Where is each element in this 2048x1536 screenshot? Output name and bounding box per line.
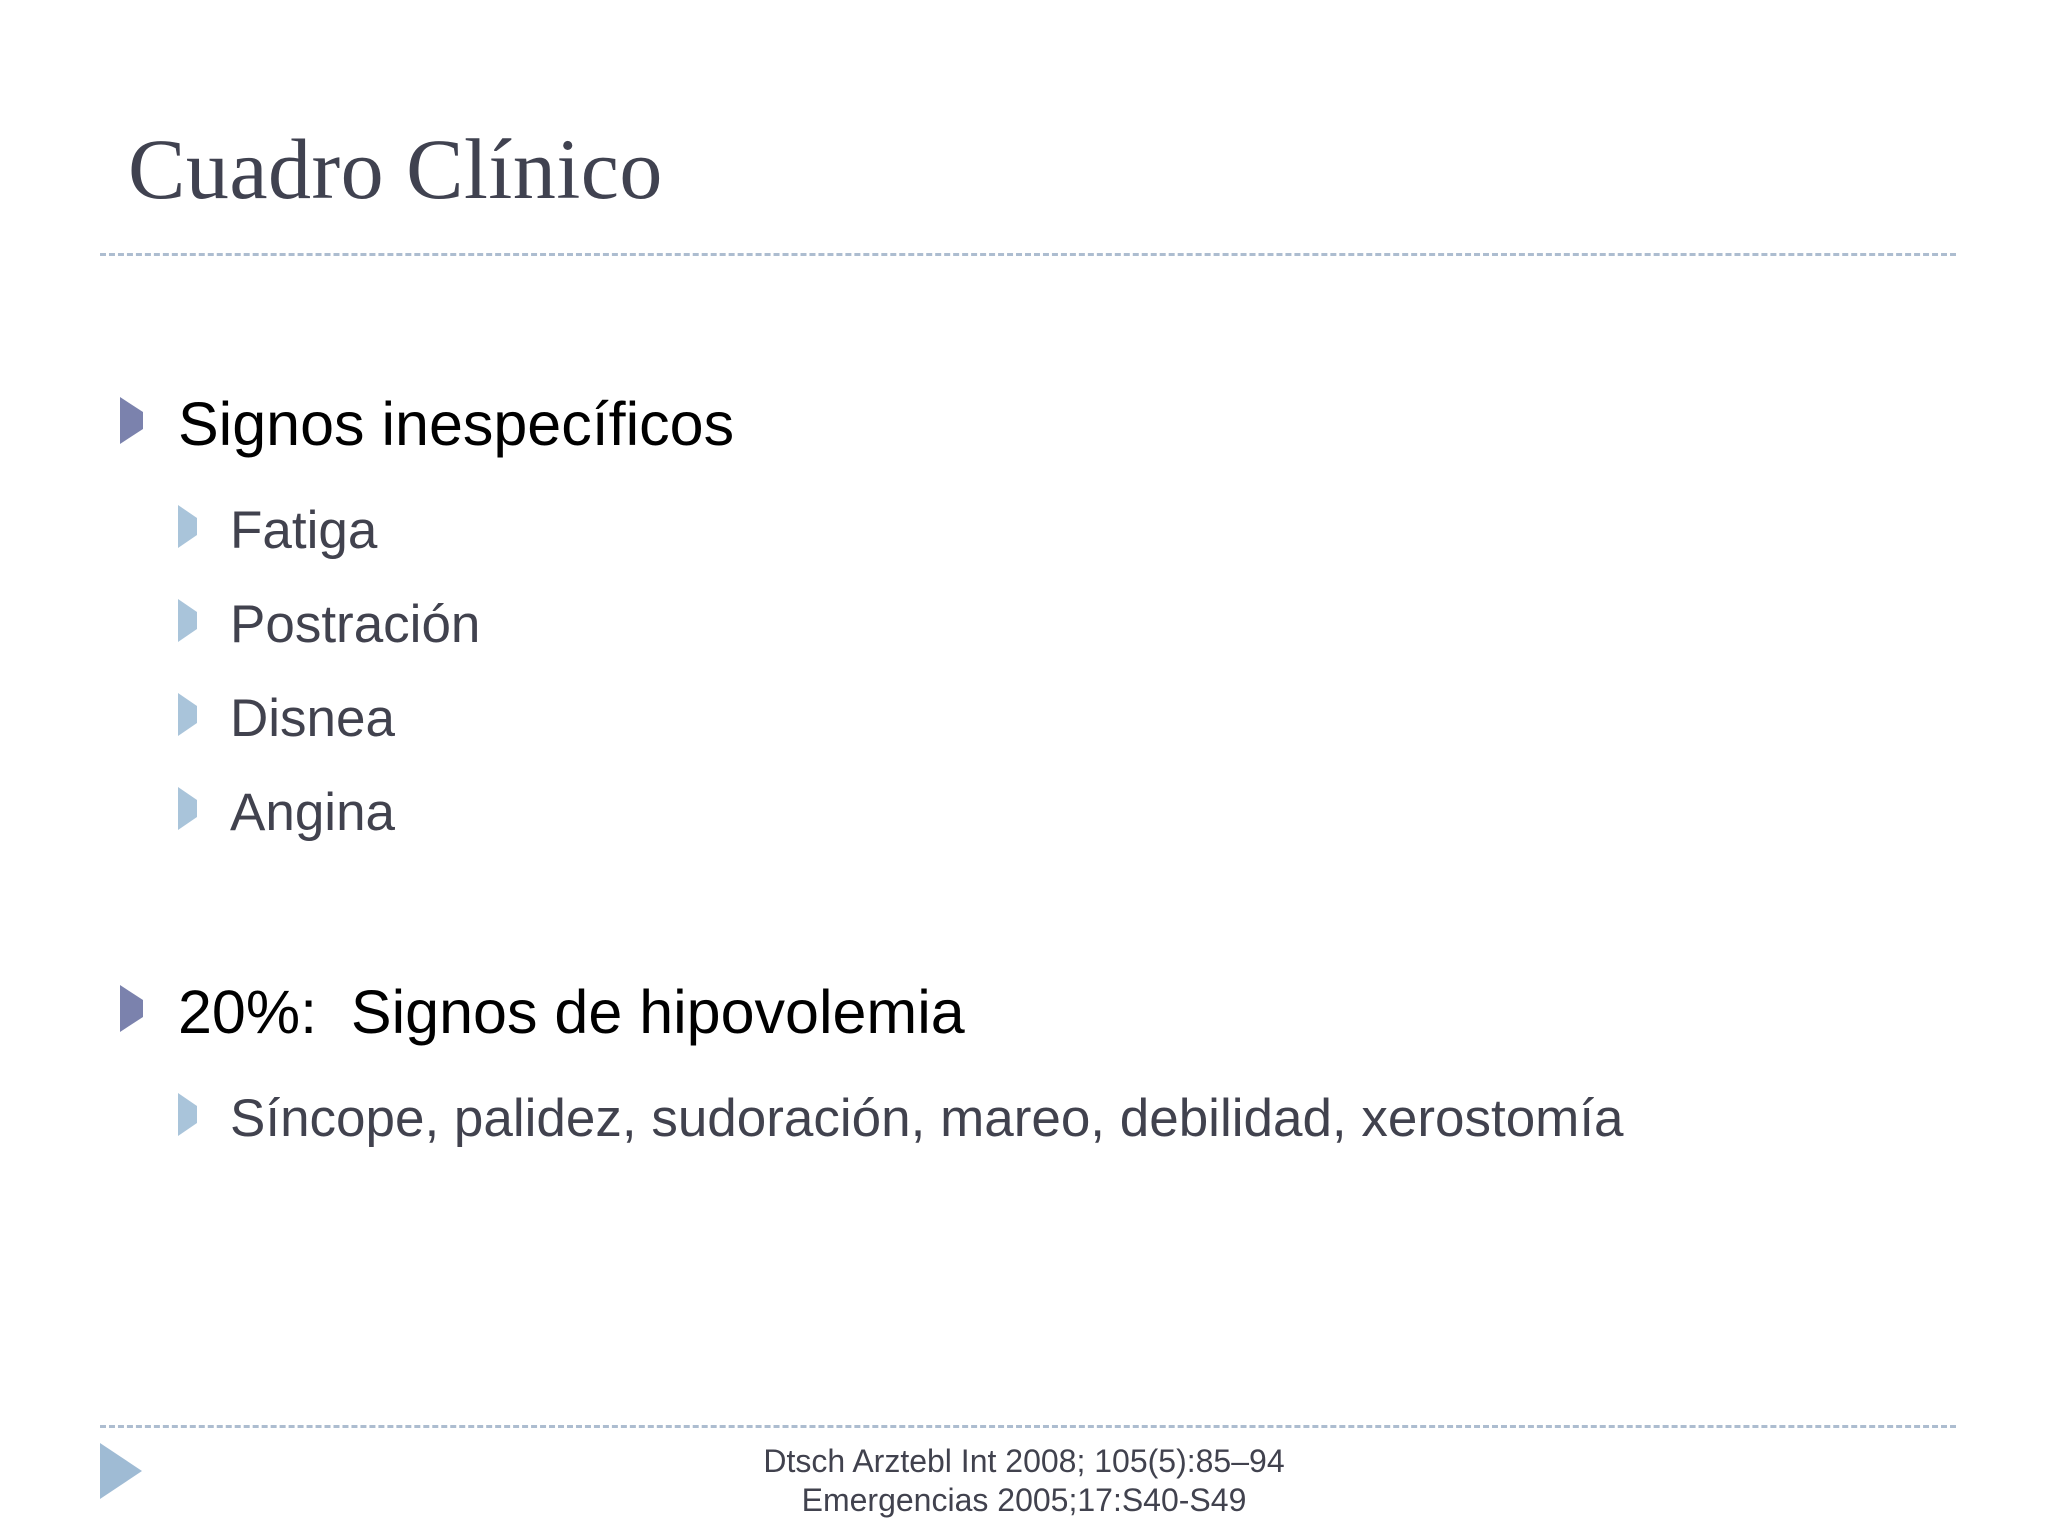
bullet-triangle-icon — [120, 1000, 144, 1018]
bullet-triangle-icon — [178, 518, 198, 536]
play-triangle-icon[interactable] — [100, 1443, 142, 1499]
bullet-triangle-icon — [178, 706, 198, 724]
bullet-postracion: Postración — [178, 594, 1738, 657]
slide: Cuadro Clínico Signos inespecíficos Fati… — [0, 0, 2048, 1536]
bullet-triangle-icon — [120, 412, 144, 430]
bullet-triangle-icon — [178, 1106, 198, 1124]
bullet-triangle-icon — [178, 612, 198, 630]
citation-line-2: Emergencias 2005;17:S40-S49 — [0, 1481, 2048, 1520]
footer-citations: Dtsch Arztebl Int 2008; 105(5):85–94 Eme… — [0, 1442, 2048, 1520]
bullet-label: Disnea — [230, 688, 395, 751]
bullet-signos-inespecificos: Signos inespecíficos — [120, 390, 1920, 458]
bullet-triangle-icon — [178, 800, 198, 818]
bullet-label: Síncope, palidez, sudoración, mareo, deb… — [230, 1088, 1624, 1151]
bullet-label: Angina — [230, 782, 395, 845]
bullet-label: Signos inespecíficos — [178, 390, 734, 458]
citation-line-1: Dtsch Arztebl Int 2008; 105(5):85–94 — [0, 1442, 2048, 1481]
bullet-angina: Angina — [178, 782, 1738, 845]
bullet-fatiga: Fatiga — [178, 500, 1738, 563]
bullet-label: Fatiga — [230, 500, 377, 563]
page-title: Cuadro Clínico — [128, 126, 663, 212]
bullet-label: 20%: Signos de hipovolemia — [178, 978, 965, 1046]
bullet-disnea: Disnea — [178, 688, 1738, 751]
bullet-sincope: Síncope, palidez, sudoración, mareo, deb… — [178, 1088, 1738, 1151]
footer-divider — [100, 1425, 1956, 1428]
bullet-label: Postración — [230, 594, 480, 657]
title-divider — [100, 253, 1956, 256]
bullet-hipovolemia: 20%: Signos de hipovolemia — [120, 978, 1920, 1046]
